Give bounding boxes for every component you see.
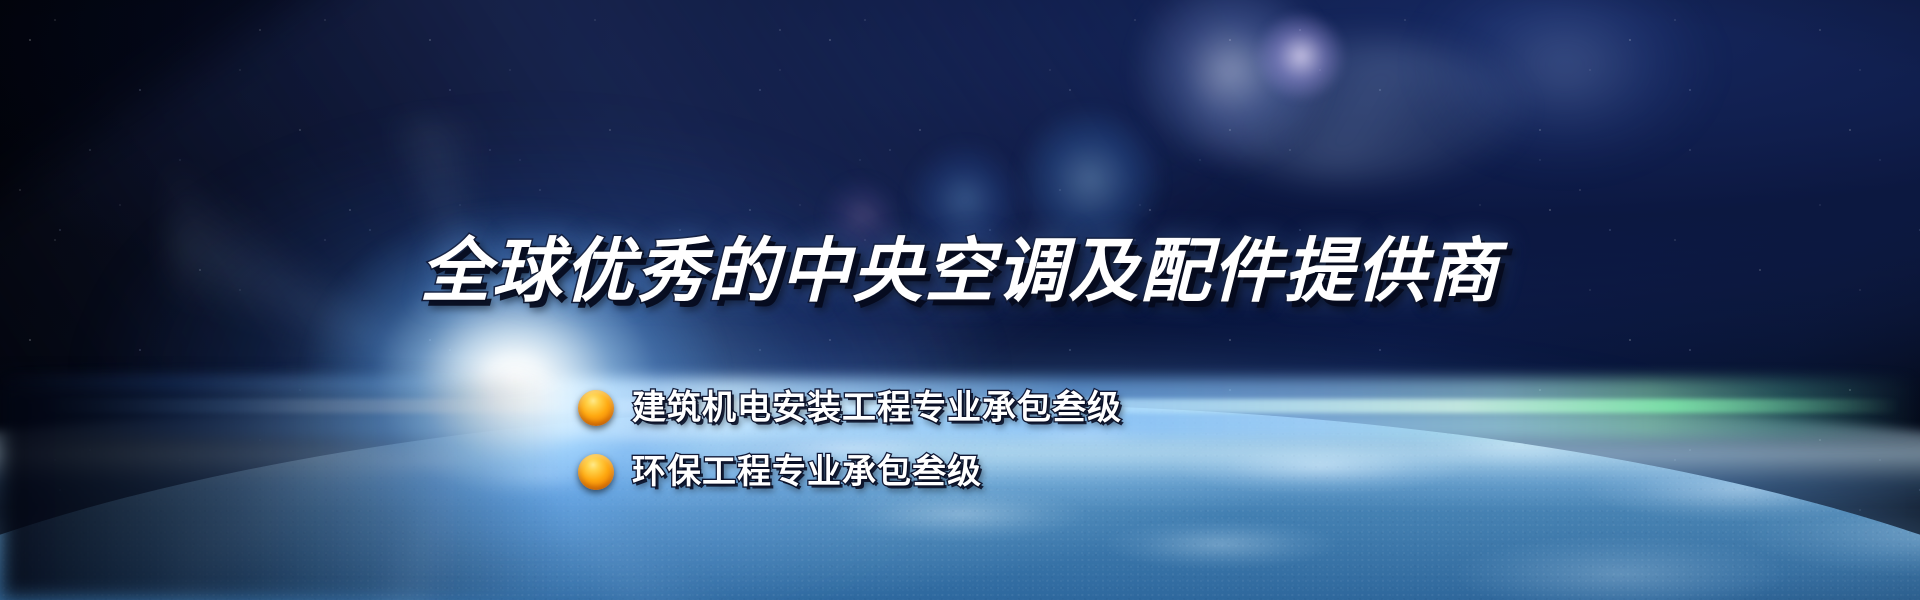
bullet-item-2-label: 环保工程专业承包叁级 xyxy=(632,455,982,489)
hero-banner: 全球优秀的中央空调及配件提供商 建筑机电安装工程专业承包叁级 环保工程专业承包叁… xyxy=(0,0,1920,600)
orange-sphere-bullet-icon xyxy=(578,454,614,490)
bullet-item-1: 建筑机电安装工程专业承包叁级 xyxy=(578,380,1478,436)
banner-headline: 全球优秀的中央空调及配件提供商 xyxy=(0,236,1920,306)
banner-bullet-list: 建筑机电安装工程专业承包叁级 环保工程专业承包叁级 xyxy=(578,380,1478,508)
orange-sphere-bullet-icon xyxy=(578,390,614,426)
banner-content: 全球优秀的中央空调及配件提供商 建筑机电安装工程专业承包叁级 环保工程专业承包叁… xyxy=(0,0,1920,600)
bullet-item-2: 环保工程专业承包叁级 xyxy=(578,444,1478,500)
bullet-item-1-label: 建筑机电安装工程专业承包叁级 xyxy=(632,391,1122,425)
